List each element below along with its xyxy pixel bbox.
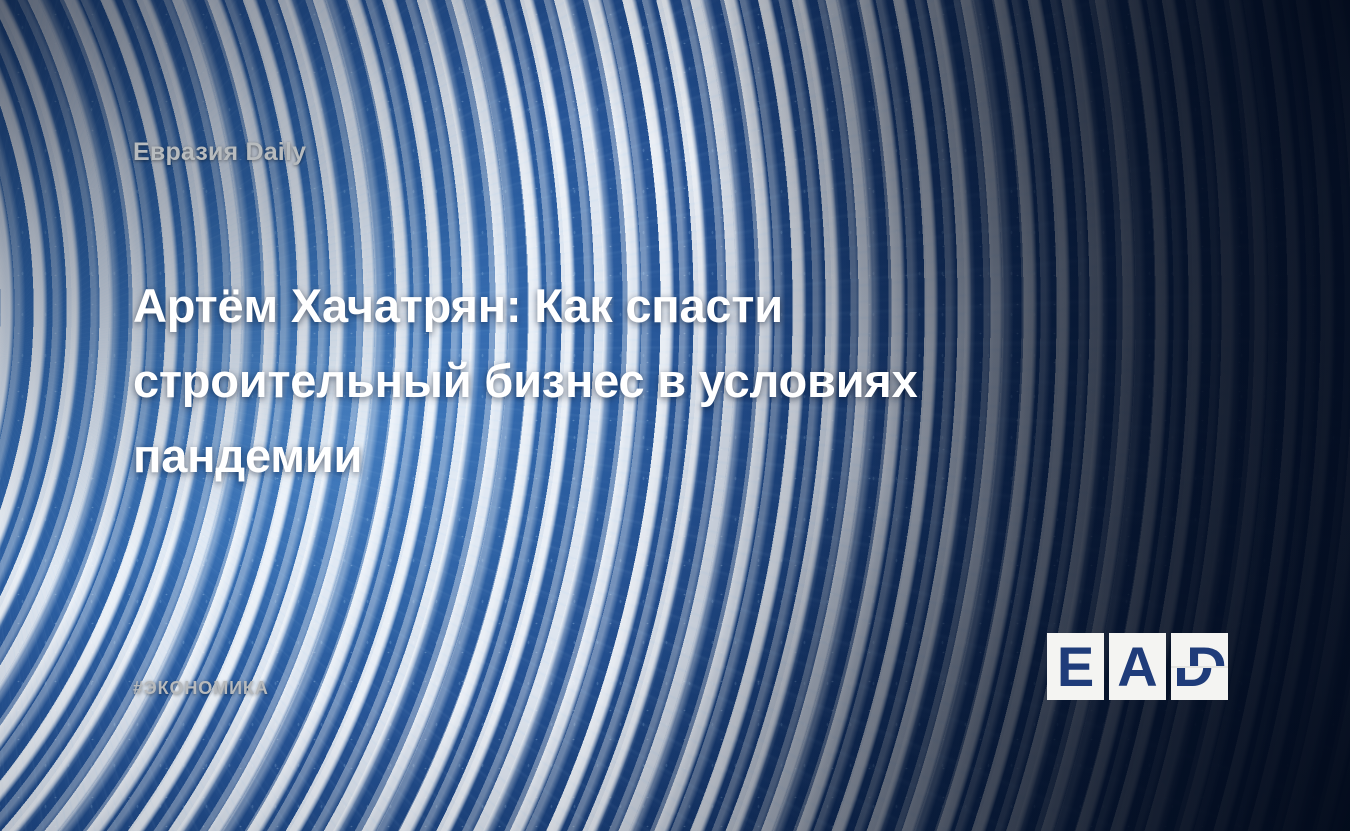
logo-split-seam [1171,666,1228,668]
logo-tile-e: E [1047,633,1104,700]
logo-letter-d-bottom-half: D [1171,667,1228,701]
category-tag: #ЭКОНОМИКА [133,678,269,699]
logo-letter-d-lower: D [1171,667,1222,701]
headline: Артём Хачатрян: Как спасти строительный … [133,268,1063,493]
card-content: Евразия Daily Артём Хачатрян: Как спасти… [0,0,1350,831]
eadaily-logo: E A D D [1047,633,1228,700]
site-name: Евразия Daily [133,138,306,167]
logo-tile-a: A [1109,633,1166,700]
news-share-card: Евразия Daily Артём Хачатрян: Как спасти… [0,0,1350,831]
logo-letter-a: A [1109,633,1166,700]
logo-letter-d-top-half: D [1171,633,1228,667]
logo-letter-e: E [1047,633,1104,700]
logo-letter-d-upper: D [1178,633,1228,667]
logo-tile-d-split: D D [1171,633,1228,700]
